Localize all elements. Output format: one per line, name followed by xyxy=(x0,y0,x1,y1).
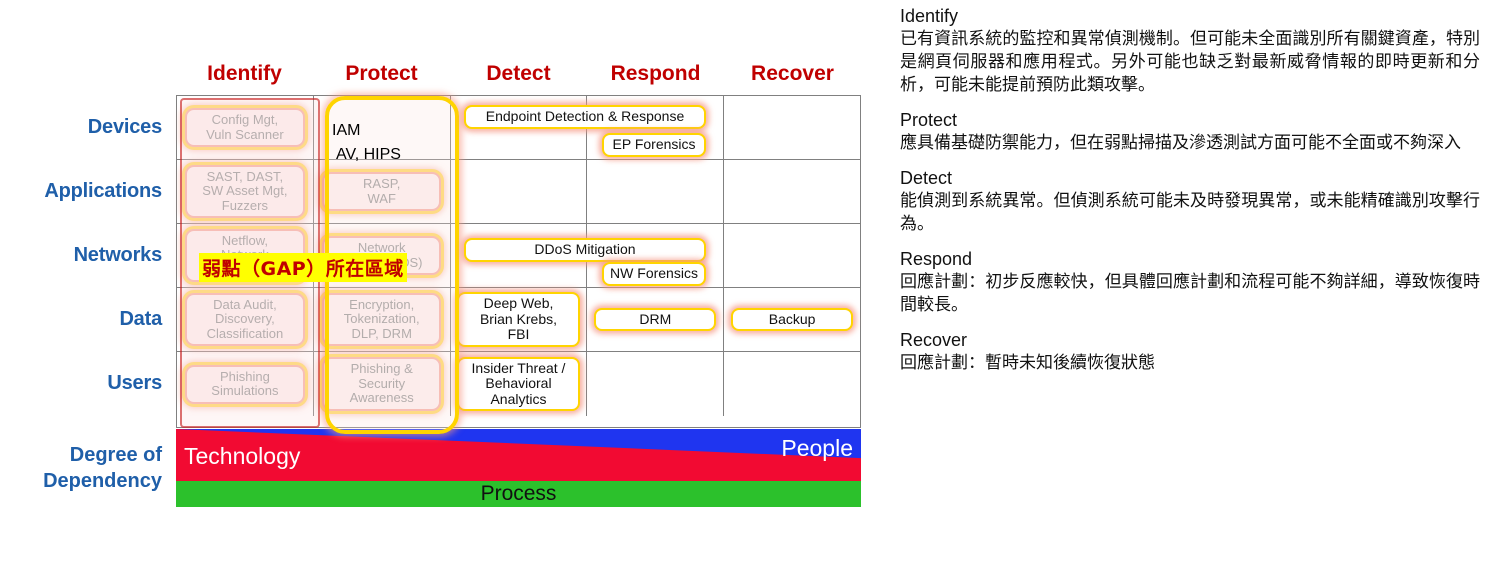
capability-data-audit-discovery-classification: Data Audit,Discovery,Classification xyxy=(185,293,305,347)
matrix-row-data: Data Audit,Discovery,Classification Encr… xyxy=(177,288,860,352)
assessment-title-identify: Identify xyxy=(900,6,1480,27)
capability-nw-forensics: NW Forensics xyxy=(602,262,706,286)
row-label-devices: Devices xyxy=(0,95,172,159)
column-header-detect: Detect xyxy=(450,62,587,86)
capability-av-hips: AV, HIPS xyxy=(336,128,440,164)
assessment-body-identify: 已有資訊系統的監控和異常偵測機制。但可能未全面識別所有關鍵資產，特別是網頁伺服器… xyxy=(900,28,1480,97)
cell-data-identify: Data Audit,Discovery,Classification xyxy=(177,288,314,351)
cell-data-detect: Deep Web,Brian Krebs,FBI xyxy=(451,288,588,351)
cell-users-respond xyxy=(587,352,724,416)
column-header-recover: Recover xyxy=(724,62,861,86)
assessment-section-protect: Protect 應具備基礎防禦能力，但在弱點掃描及滲透測試方面可能不全面或不夠深… xyxy=(900,110,1480,155)
capability-deep-web-brian-krebs-fbi: Deep Web,Brian Krebs,FBI xyxy=(457,292,579,347)
column-header-respond: Respond xyxy=(587,62,724,86)
capability-ddos-mitigation: DDoS Mitigation xyxy=(464,238,706,262)
row-label-networks: Networks xyxy=(0,223,172,287)
dependency-label-line1: Degree of xyxy=(70,442,162,468)
assessment-text-panel: Identify 已有資訊系統的監控和異常偵測機制。但可能未全面識別所有關鍵資產… xyxy=(900,6,1480,572)
capability-phishing-simulations: PhishingSimulations xyxy=(185,365,305,404)
column-header-identify: Identify xyxy=(176,62,313,86)
cell-networks-recover xyxy=(724,224,860,287)
row-label-users: Users xyxy=(0,351,172,415)
cell-users-detect: Insider Threat /BehavioralAnalytics xyxy=(451,352,588,416)
dependency-label-line2: Dependency xyxy=(43,468,162,494)
column-header-protect: Protect xyxy=(313,62,450,86)
assessment-section-identify: Identify 已有資訊系統的監控和異常偵測機制。但可能未全面識別所有關鍵資產… xyxy=(900,6,1480,97)
cell-data-recover: Backup xyxy=(724,288,860,351)
row-label-applications: Applications xyxy=(0,159,172,223)
assessment-title-recover: Recover xyxy=(900,330,1480,351)
cell-devices-identify: Config Mgt,Vuln Scanner xyxy=(177,96,314,159)
row-label-column: Devices Applications Networks Data Users xyxy=(0,95,172,415)
cell-users-recover xyxy=(724,352,860,416)
degree-of-dependency-bar: Technology People Process xyxy=(176,429,861,507)
process-label: Process xyxy=(176,481,861,507)
cell-applications-protect: RASP,WAF xyxy=(314,160,451,223)
cell-devices-recover xyxy=(724,96,860,159)
nist-csf-matrix-panel: Devices Applications Networks Data Users… xyxy=(0,0,880,574)
capability-config-mgt-vuln-scanner: Config Mgt,Vuln Scanner xyxy=(185,108,305,147)
capability-rasp-waf: RASP,WAF xyxy=(322,172,442,211)
capability-phishing-security-awareness: Phishing &SecurityAwareness xyxy=(322,357,442,411)
capability-backup: Backup xyxy=(731,308,853,332)
capability-endpoint-detection-and-response: Endpoint Detection & Response xyxy=(464,105,706,129)
row-label-data: Data xyxy=(0,287,172,351)
capability-ep-forensics: EP Forensics xyxy=(602,133,706,157)
technology-label: Technology xyxy=(184,443,300,470)
gap-annotation-highlight: 弱點（GAP）所在區域 xyxy=(199,253,407,282)
assessment-body-respond: 回應計劃：初步反應較快，但具體回應計劃和流程可能不夠詳細，導致恢復時間較長。 xyxy=(900,271,1480,317)
assessment-section-detect: Detect 能偵測到系統異常。但偵測系統可能未及時發現異常，或未能精確識別攻擊… xyxy=(900,168,1480,236)
capability-sast-dast-sw-asset-mgt-fuzzers: SAST, DAST,SW Asset Mgt,Fuzzers xyxy=(185,165,305,219)
cell-data-protect: Encryption,Tokenization,DLP, DRM xyxy=(314,288,451,351)
cell-applications-respond xyxy=(587,160,724,223)
column-header-row: Identify Protect Detect Respond Recover xyxy=(176,62,861,86)
capability-drm: DRM xyxy=(594,308,716,332)
cell-applications-identify: SAST, DAST,SW Asset Mgt,Fuzzers xyxy=(177,160,314,223)
assessment-body-recover: 回應計劃：暫時未知後續恢復狀態 xyxy=(900,352,1480,375)
assessment-body-detect: 能偵測到系統異常。但偵測系統可能未及時發現異常，或未能精確識別攻擊行為。 xyxy=(900,190,1480,236)
assessment-body-protect: 應具備基礎防禦能力，但在弱點掃描及滲透測試方面可能不全面或不夠深入 xyxy=(900,132,1480,155)
cell-applications-detect xyxy=(451,160,588,223)
cell-data-respond: DRM xyxy=(587,288,724,351)
people-label: People xyxy=(781,435,853,462)
assessment-title-detect: Detect xyxy=(900,168,1480,189)
assessment-title-respond: Respond xyxy=(900,249,1480,270)
matrix-row-applications: SAST, DAST,SW Asset Mgt,Fuzzers RASP,WAF xyxy=(177,160,860,224)
assessment-section-respond: Respond 回應計劃：初步反應較快，但具體回應計劃和流程可能不夠詳細，導致恢… xyxy=(900,249,1480,317)
cell-applications-recover xyxy=(724,160,860,223)
assessment-section-recover: Recover 回應計劃：暫時未知後續恢復狀態 xyxy=(900,330,1480,375)
cell-users-identify: PhishingSimulations xyxy=(177,352,314,416)
capability-encryption-tokenization-dlp-drm: Encryption,Tokenization,DLP, DRM xyxy=(322,293,442,347)
cell-users-protect: Phishing &SecurityAwareness xyxy=(314,352,451,416)
matrix-row-users: PhishingSimulations Phishing &SecurityAw… xyxy=(177,352,860,416)
degree-of-dependency-label: Degree of Dependency xyxy=(0,428,172,508)
assessment-title-protect: Protect xyxy=(900,110,1480,131)
capability-insider-threat-behavioral-analytics: Insider Threat /BehavioralAnalytics xyxy=(457,357,579,412)
